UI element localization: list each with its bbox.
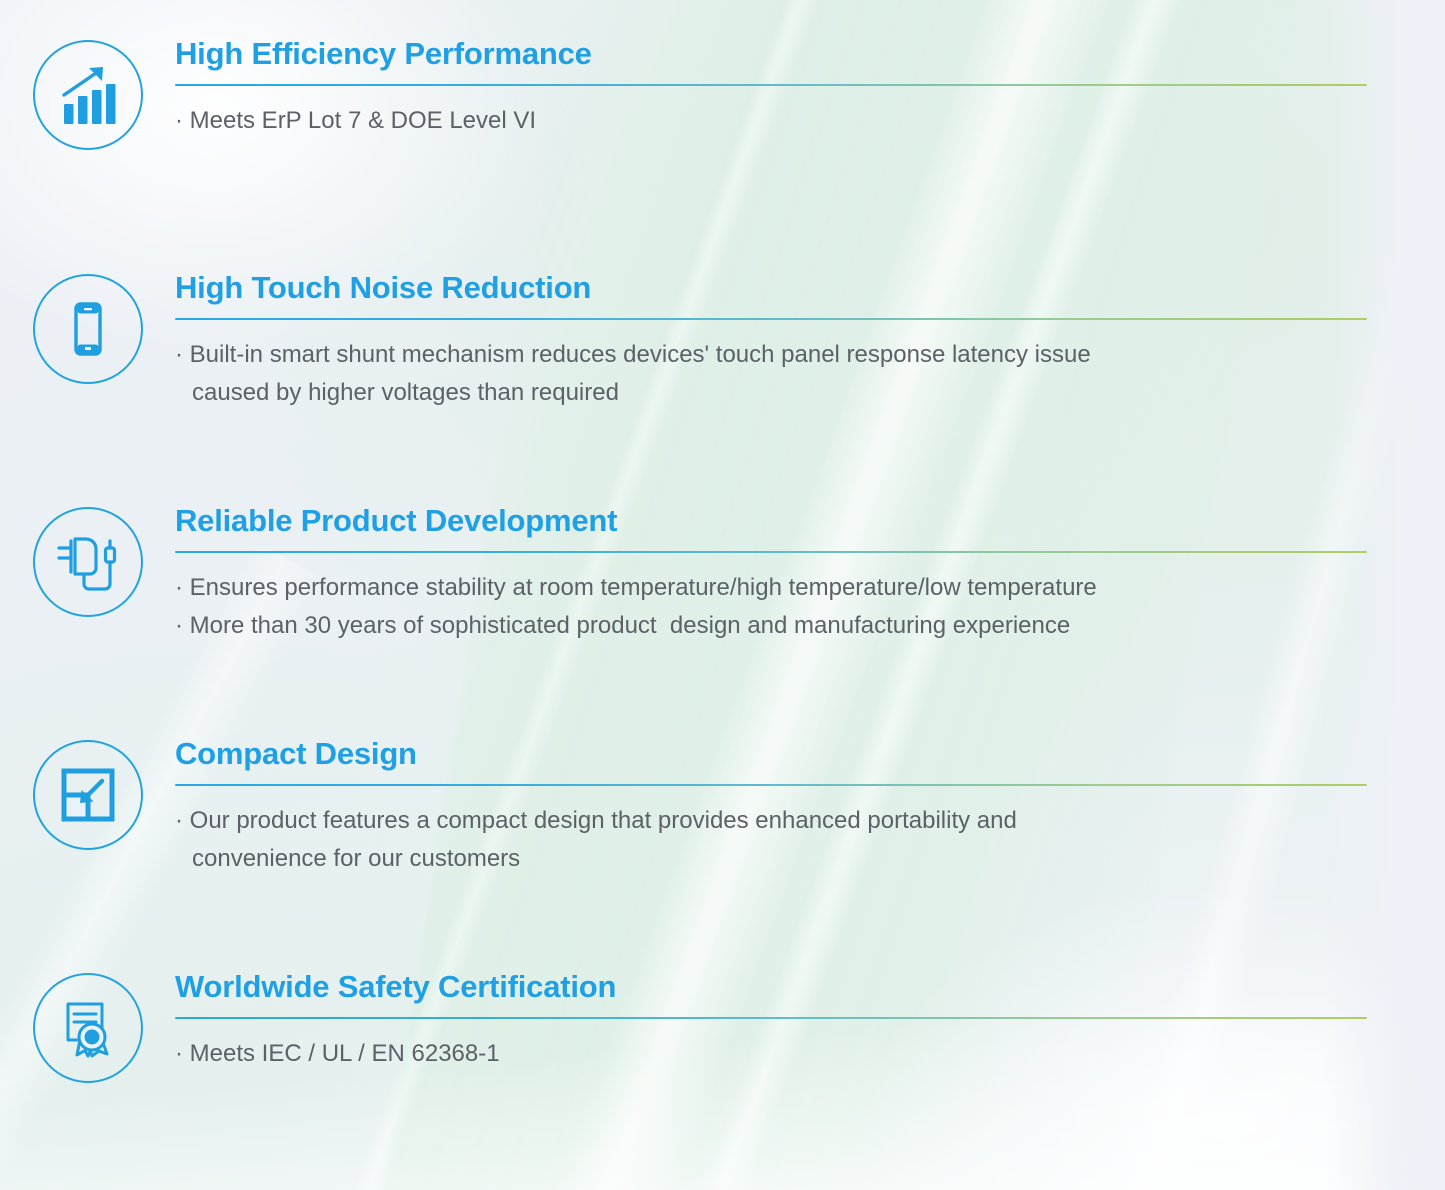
feature-body: Worldwide Safety Certification · Meets I… [175, 971, 1445, 1073]
feature-body: Reliable Product Development · Ensures p… [175, 505, 1445, 645]
feature-divider [175, 318, 1367, 320]
certificate-award-icon [33, 973, 143, 1083]
feature-title: High Touch Noise Reduction [175, 272, 1367, 304]
feature-item-compact-design: Compact Design · Our product features a … [0, 738, 1445, 878]
feature-icon-container [0, 738, 175, 850]
feature-item-high-touch-noise-reduction: High Touch Noise Reduction · Built-in sm… [0, 272, 1445, 412]
feature-bullet: · Meets ErP Lot 7 & DOE Level VI [175, 102, 1367, 140]
feature-bullet-continuation: convenience for our customers [175, 840, 1367, 878]
feature-body: Compact Design · Our product features a … [175, 738, 1445, 878]
feature-bullet: · Built-in smart shunt mechanism reduces… [175, 336, 1367, 374]
feature-bullet: · Ensures performance stability at room … [175, 569, 1367, 607]
feature-body: High Efficiency Performance · Meets ErP … [175, 38, 1445, 140]
bar-chart-growth-icon [33, 40, 143, 150]
feature-title: Reliable Product Development [175, 505, 1367, 537]
feature-body: High Touch Noise Reduction · Built-in sm… [175, 272, 1445, 412]
feature-item-high-efficiency-performance: High Efficiency Performance · Meets ErP … [0, 38, 1445, 150]
power-adapter-icon [33, 507, 143, 617]
feature-item-worldwide-safety-certification: Worldwide Safety Certification · Meets I… [0, 971, 1445, 1083]
feature-divider [175, 551, 1367, 553]
feature-title: Worldwide Safety Certification [175, 971, 1367, 1003]
feature-divider [175, 784, 1367, 786]
feature-title: Compact Design [175, 738, 1367, 770]
feature-bullet: · Meets IEC / UL / EN 62368-1 [175, 1035, 1367, 1073]
feature-bullet: · Our product features a compact design … [175, 802, 1367, 840]
feature-icon-container [0, 505, 175, 617]
feature-bullet-continuation: caused by higher voltages than required [175, 374, 1367, 412]
feature-icon-container [0, 971, 175, 1083]
feature-divider [175, 84, 1367, 86]
smartphone-icon [33, 274, 143, 384]
feature-title: High Efficiency Performance [175, 38, 1367, 70]
feature-icon-container [0, 38, 175, 150]
feature-icon-container [0, 272, 175, 384]
compact-resize-icon [33, 740, 143, 850]
feature-item-reliable-product-development: Reliable Product Development · Ensures p… [0, 505, 1445, 645]
feature-divider [175, 1017, 1367, 1019]
feature-bullet: · More than 30 years of sophisticated pr… [175, 607, 1367, 645]
feature-list: High Efficiency Performance · Meets ErP … [0, 0, 1445, 1190]
